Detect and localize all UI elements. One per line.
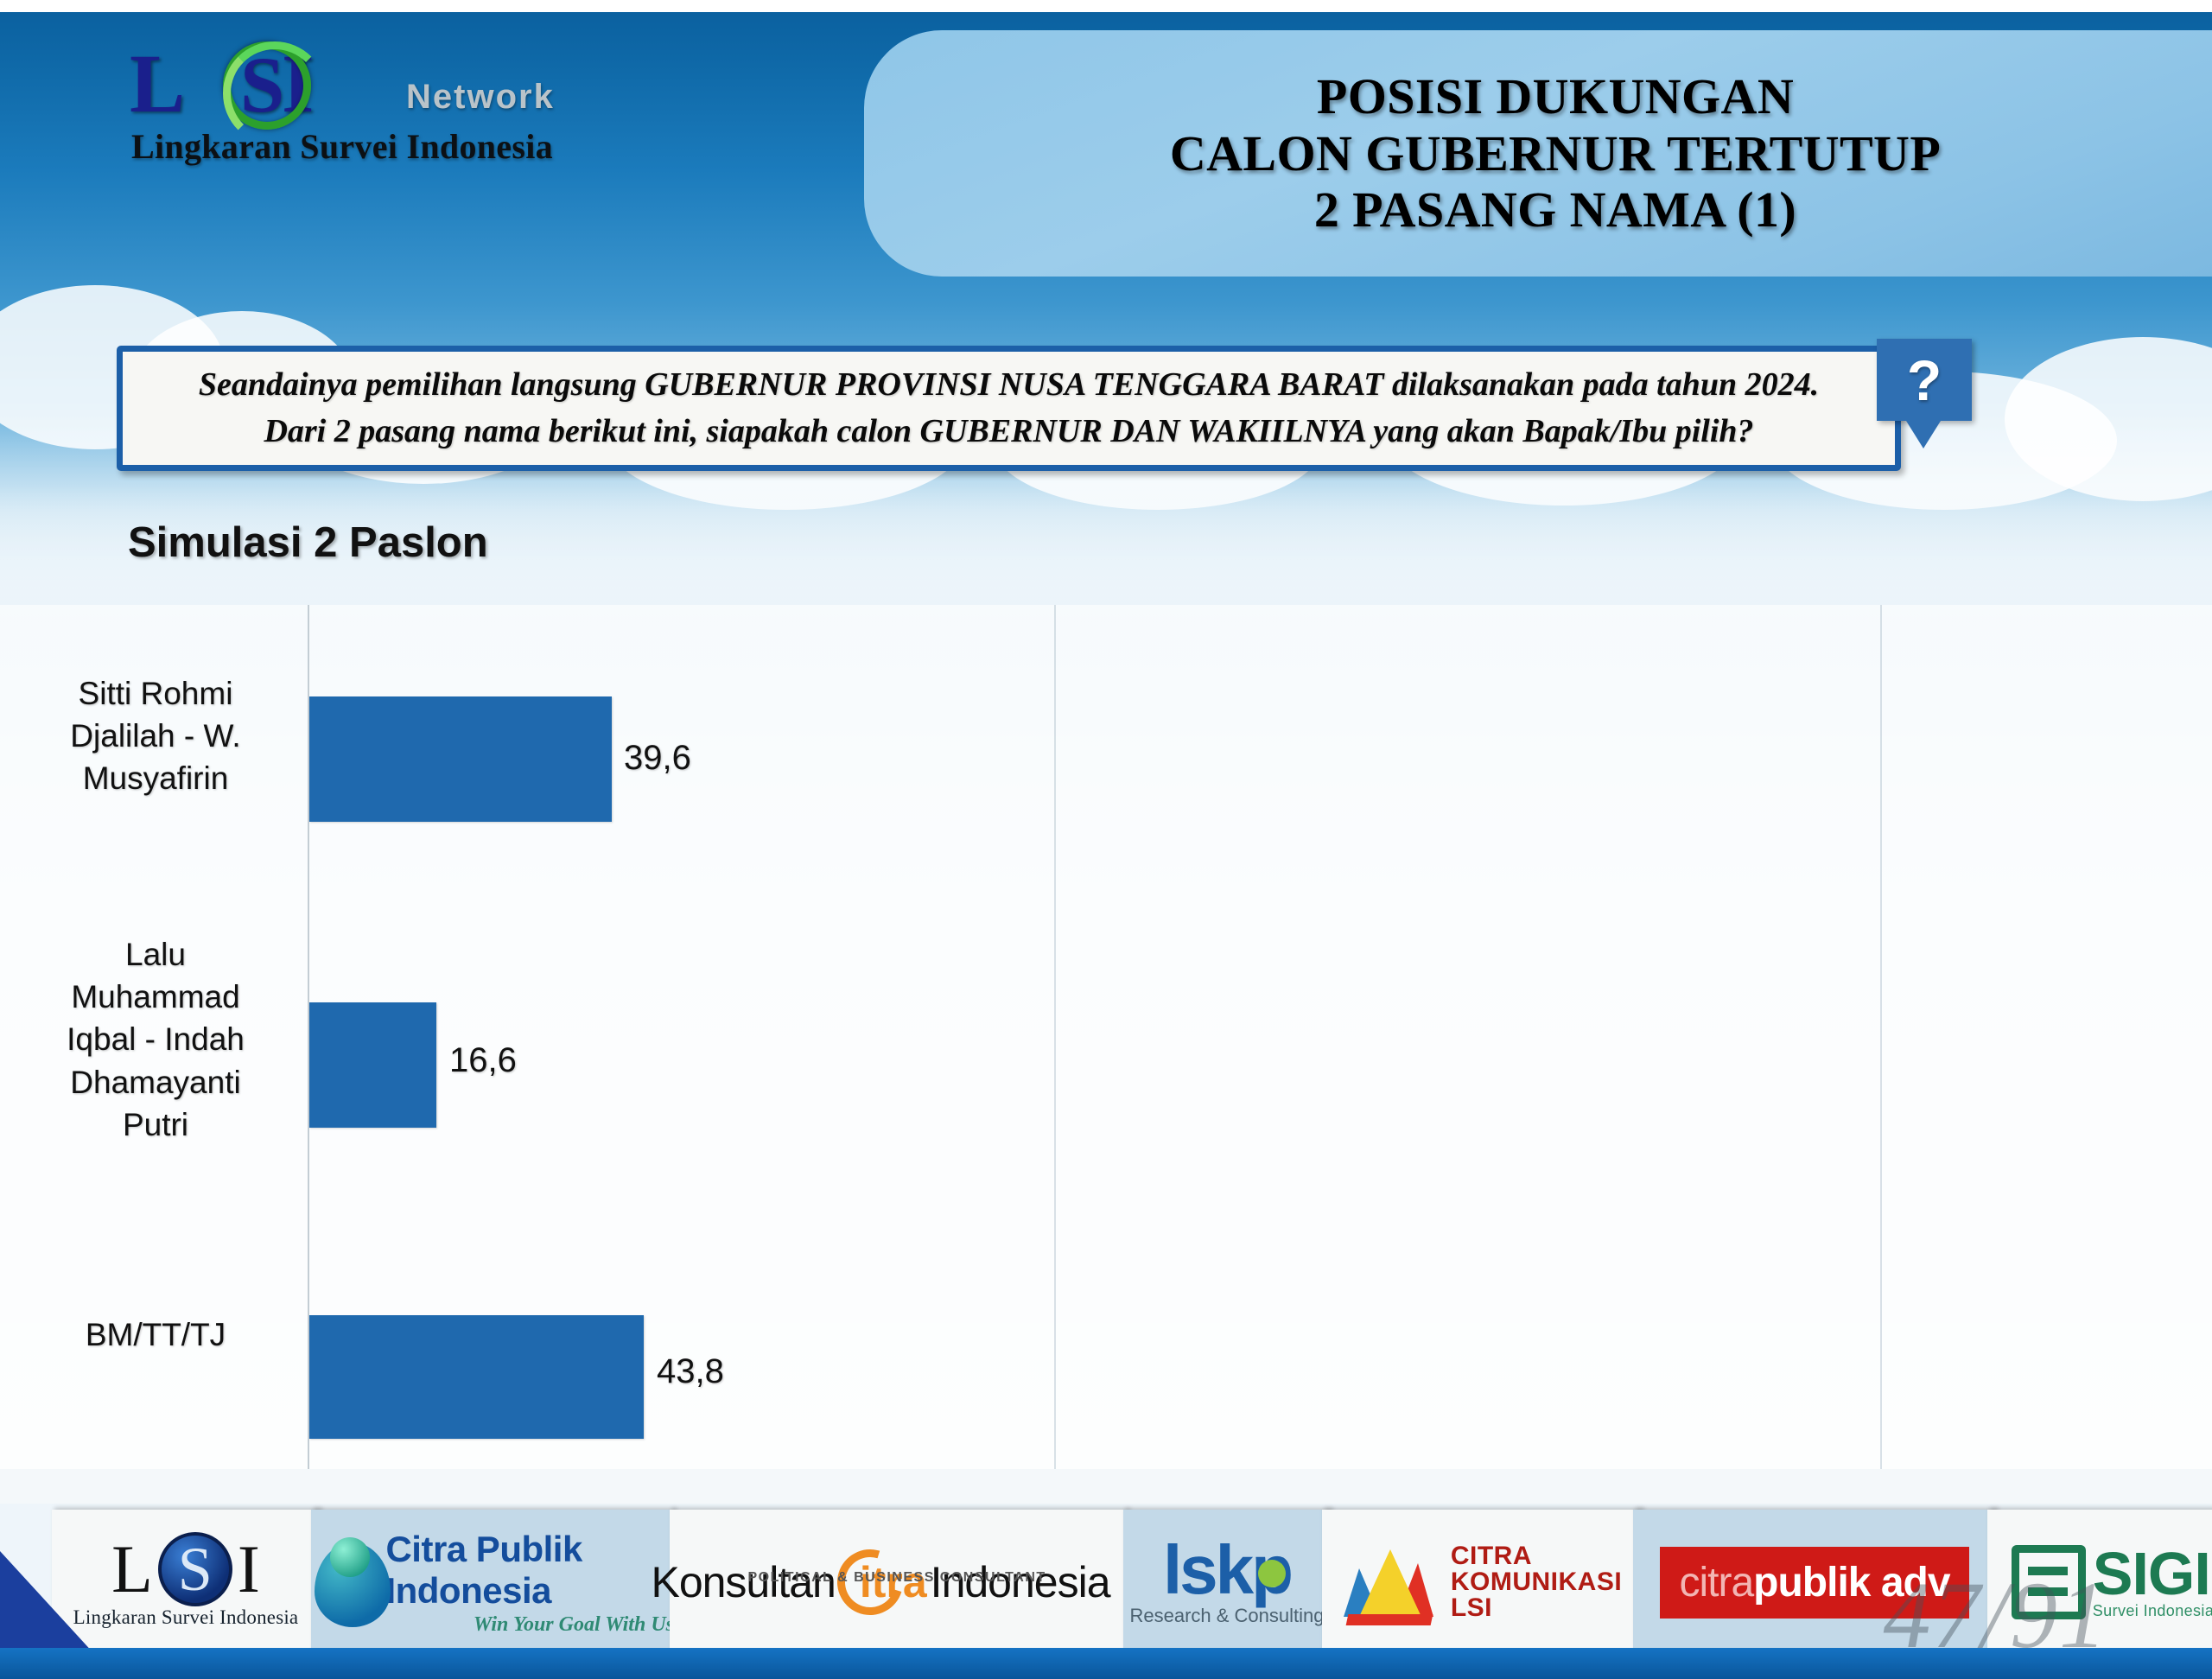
crown-icon	[1342, 1539, 1437, 1625]
footer-bottom-bar	[0, 1648, 2212, 1679]
sigi-glyph-icon	[2012, 1545, 2086, 1619]
sigi-mark: SIGI	[2093, 1545, 2212, 1602]
sigi-sub: Survei Indonesia	[2093, 1602, 2212, 1620]
page-title-line-2: CALON GUBERNUR TERTUTUP	[1170, 125, 1941, 182]
lskp-dot-icon	[1258, 1560, 1286, 1587]
footer-logo-sigi: SIGI Survei Indonesia	[1987, 1510, 2212, 1655]
question-line-2: Dari 2 pasang nama berikut ini, siapakah…	[264, 409, 1753, 455]
chart-gridline-2	[1880, 605, 1882, 1469]
question-line-1: Seandainya pemilihan langsung GUBERNUR P…	[199, 362, 1819, 409]
bar-value-3: 43,8	[657, 1352, 724, 1391]
cpa-part2: publik adv	[1753, 1560, 1949, 1606]
citra-publik-slogan: Win Your Goal With Us	[385, 1613, 674, 1637]
lsi-logo: L S I Network Lingkaran Survei Indonesia	[130, 45, 562, 166]
lsi-letter-l: L	[130, 45, 185, 123]
footer-lsi-letter-l: L	[111, 1538, 153, 1600]
ck-line3: LSI	[1451, 1595, 1622, 1621]
ck-line1: CITRA	[1451, 1543, 1622, 1569]
footer: L S I Lingkaran Survei Indonesia Citra P…	[0, 1506, 2212, 1679]
footer-logo-lskp: lskp Research & Consulting	[1123, 1510, 1331, 1655]
bar-label-3: BM/TT/TJ	[17, 1313, 294, 1356]
lsi-letter-s: S	[240, 47, 284, 123]
slide-root: L S I Network Lingkaran Survei Indonesia…	[0, 0, 2212, 1679]
lsi-network-text: Network	[406, 78, 555, 117]
lsi-logo-mark: L S I Network	[130, 45, 562, 128]
footer-logo-citra-publik-indonesia: Citra Publik Indonesia Win Your Goal Wit…	[311, 1510, 674, 1655]
kci-sub: POLITICAL & BUSINESS CONSULTANT	[747, 1570, 1046, 1586]
bar-label-1: Sitti Rohmi Djalilah - W. Musyafirin	[17, 672, 294, 800]
footer-triangle-accent	[0, 1551, 95, 1655]
bar-rect-2	[309, 1002, 436, 1128]
bar-chart: Sitti Rohmi Djalilah - W. Musyafirin 39,…	[0, 605, 2212, 1469]
ck-line2: KOMUNIKASI	[1451, 1569, 1622, 1595]
bar-value-2: 16,6	[449, 1041, 517, 1080]
question-mark-badge: ?	[1877, 339, 1972, 421]
citrapublik-adv-badge: citrapublik adv	[1660, 1547, 1968, 1619]
question-mark-icon: ?	[1907, 347, 1942, 413]
page-title-line-3: 2 PASANG NAMA (1)	[1314, 181, 1796, 238]
footer-lsi-letter-i: I	[238, 1538, 260, 1600]
lsi-tagline: Lingkaran Survei Indonesia	[131, 126, 553, 167]
bar-value-1: 39,6	[624, 739, 691, 778]
footer-lsi-circle-icon: S	[158, 1532, 232, 1606]
footer-logo-citrapublik-adv: citrapublik adv	[1633, 1510, 1996, 1655]
top-white-strip	[0, 0, 2212, 12]
bar-rect-1	[309, 696, 612, 822]
chart-gridline-1	[1054, 605, 1056, 1469]
footer-logo-konsultan-citra-indonesia: Konsultan itra Indonesia POLITICAL & BUS…	[670, 1510, 1128, 1655]
slide-title-box: POSISI DUKUNGAN CALON GUBERNUR TERTUTUP …	[864, 30, 2212, 277]
chart-title: Simulasi 2 Paslon	[128, 518, 488, 567]
footer-logo-citra-komunikasi-lsi: CITRA KOMUNIKASI LSI	[1322, 1510, 1642, 1655]
cpa-part1: citra	[1679, 1560, 1753, 1606]
page-title-line-1: POSISI DUKUNGAN	[1317, 68, 1794, 125]
bar-rect-3	[309, 1315, 644, 1439]
citra-publik-name: Citra Publik Indonesia	[385, 1529, 674, 1612]
question-box: Seandainya pemilihan langsung GUBERNUR P…	[117, 346, 1901, 471]
bar-label-2: Lalu Muhammad Iqbal - Indah Dhamayanti P…	[17, 933, 294, 1146]
footer-lsi-sub: Lingkaran Survei Indonesia	[73, 1606, 299, 1629]
citra-publik-orb-icon	[311, 1534, 375, 1631]
lskp-mark: lskp	[1163, 1537, 1291, 1603]
